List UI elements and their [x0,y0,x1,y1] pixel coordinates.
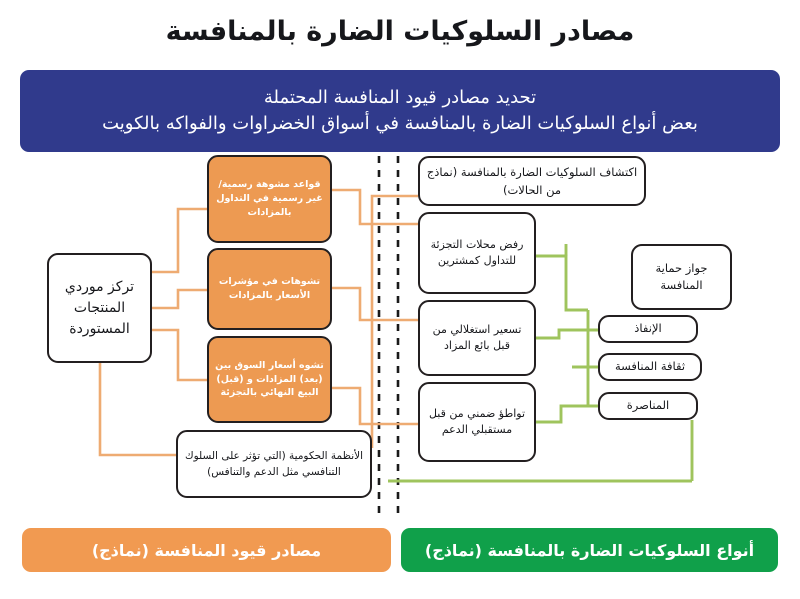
node-competition-protection-permit[interactable]: جواز حماية المنافسة [631,244,732,310]
node-supplier-concentration-label: تركز موردي المنتجات المستوردة [54,277,145,340]
node-implicit-collusion-label: تواطؤ ضمني من قبل مستقبلي الدعم [425,406,529,439]
node-exploitative-pricing[interactable]: تسعير استغلالي من قبل بائع المزاد [418,300,536,376]
legend-sources-of-restrictions[interactable]: مصادر قيود المنافسة (نماذج) [22,528,391,572]
node-price-indicator-distortions[interactable]: تشوهات في مؤشرات الأسعار بالمزادات [207,248,332,330]
node-market-price-distortion-label: تشوه أسعار السوق بين (بعد) المزادات و (ق… [214,359,325,400]
legend-types-label: أنواع السلوكيات الضارة بالمنافسة (نماذج) [425,541,754,560]
node-discovery-heading-label: اكتشاف السلوكيات الضارة بالمنافسة (نماذج… [425,163,639,200]
node-competition-culture[interactable]: ثقافة المنافسة [598,353,702,381]
node-retail-refusal[interactable]: رفض محلات التجزئة للتداول كمشترين [418,212,536,294]
node-supplier-concentration[interactable]: تركز موردي المنتجات المستوردة [47,253,152,363]
node-retail-refusal-label: رفض محلات التجزئة للتداول كمشترين [425,237,529,270]
node-enforcement[interactable]: الإنفاذ [598,315,698,343]
node-government-regulations[interactable]: الأنظمة الحكومية (التي تؤثر على السلوك ا… [176,430,372,498]
header-subtitle-primary: تحديد مصادر قيود المنافسة المحتملة [264,87,536,110]
page-title: مصادر السلوكيات الضارة بالمنافسة [0,16,800,48]
header-subtitle-secondary: بعض أنواع السلوكيات الضارة بالمنافسة في … [102,113,698,136]
infographic-canvas: مصادر السلوكيات الضارة بالمنافسة تحديد م… [0,0,800,599]
node-competition-culture-label: ثقافة المنافسة [605,359,695,374]
node-enforcement-label: الإنفاذ [605,321,691,336]
node-distorted-rules[interactable]: قواعد مشوهة رسمية/غير رسمية في التداول ب… [207,155,332,243]
node-government-regulations-label: الأنظمة الحكومية (التي تؤثر على السلوك ا… [183,448,365,481]
node-competition-protection-permit-label: جواز حماية المنافسة [638,260,725,295]
legend-types-of-harmful-behaviour[interactable]: أنواع السلوكيات الضارة بالمنافسة (نماذج) [401,528,778,572]
node-advocacy-label: المناصرة [605,398,691,413]
node-implicit-collusion[interactable]: تواطؤ ضمني من قبل مستقبلي الدعم [418,382,536,462]
header-banner: تحديد مصادر قيود المنافسة المحتملة بعض أ… [20,70,780,152]
node-discovery-heading[interactable]: اكتشاف السلوكيات الضارة بالمنافسة (نماذج… [418,156,646,206]
legend-sources-label: مصادر قيود المنافسة (نماذج) [92,541,321,560]
node-advocacy[interactable]: المناصرة [598,392,698,420]
node-price-indicator-distortions-label: تشوهات في مؤشرات الأسعار بالمزادات [214,275,325,303]
node-distorted-rules-label: قواعد مشوهة رسمية/غير رسمية في التداول ب… [214,178,325,219]
node-market-price-distortion[interactable]: تشوه أسعار السوق بين (بعد) المزادات و (ق… [207,336,332,423]
node-exploitative-pricing-label: تسعير استغلالي من قبل بائع المزاد [425,322,529,355]
